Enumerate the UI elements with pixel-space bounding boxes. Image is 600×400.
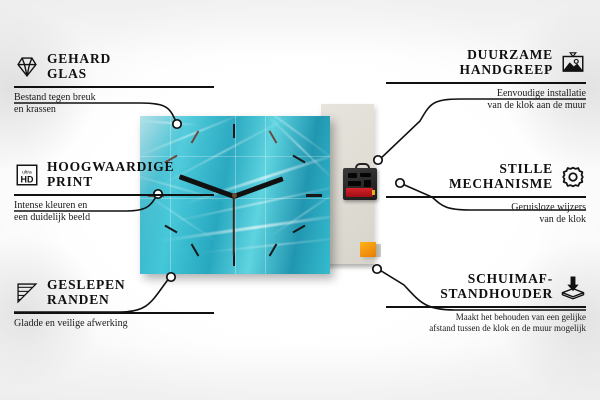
feature-description: Geruisloze wijzers van de klok bbox=[386, 202, 586, 226]
feature-description: Intense kleuren en een duidelijk beeld bbox=[14, 200, 214, 224]
feature-title: HOOGWAARDIGE PRINT bbox=[47, 160, 174, 189]
feature-rule bbox=[14, 86, 214, 88]
connector-dot-gehard-glas bbox=[173, 120, 181, 128]
connector-dot-duurzame-handgreep bbox=[374, 156, 382, 164]
feature-title: GESLEPEN RANDEN bbox=[47, 278, 125, 307]
ultra-hd-icon: ultra HD bbox=[14, 162, 40, 188]
svg-text:HD: HD bbox=[21, 174, 34, 184]
connector-dot-schuimafstandhouder bbox=[373, 265, 381, 273]
feature-rule bbox=[386, 196, 586, 198]
feature-stille-mechanisme: STILLE MECHANISME Geruisloze wijzers van… bbox=[386, 162, 586, 226]
feature-geslepen-randen: GESLEPEN RANDEN Gladde en veilige afwerk… bbox=[14, 278, 214, 330]
feature-gehard-glas: GEHARD GLAS Bestand tegen breuk en krass… bbox=[14, 52, 214, 116]
feature-title: DUURZAME HANDGREEP bbox=[460, 48, 553, 77]
feature-description: Eenvoudige installatie van de klok aan d… bbox=[386, 88, 586, 112]
feature-description: Bestand tegen breuk en krassen bbox=[14, 92, 214, 116]
feature-description: Gladde en veilige afwerking bbox=[14, 318, 214, 330]
feature-duurzame-handgreep: DUURZAME HANDGREEP Eenvoudige installati… bbox=[386, 48, 586, 112]
bevelled-edge-icon bbox=[14, 280, 40, 306]
feature-rule bbox=[386, 306, 586, 308]
feature-rule bbox=[14, 312, 214, 314]
arrow-into-stack-icon bbox=[560, 274, 586, 300]
diamond-icon bbox=[14, 54, 40, 80]
picture-frame-icon bbox=[560, 50, 586, 76]
feature-description: Maakt het behouden van een gelijke afsta… bbox=[386, 312, 586, 334]
gear-icon bbox=[560, 164, 586, 190]
feature-title: GEHARD GLAS bbox=[47, 52, 111, 81]
feature-title: SCHUIMAF- STANDHOUDER bbox=[440, 272, 553, 301]
infographic-stage: GEHARD GLAS Bestand tegen breuk en krass… bbox=[0, 0, 600, 400]
feature-hoogwaardige-print: ultra HD HOOGWAARDIGE PRINT Intense kleu… bbox=[14, 160, 214, 224]
feature-rule bbox=[386, 82, 586, 84]
feature-rule bbox=[14, 194, 214, 196]
feature-schuimafstandhouder: SCHUIMAF- STANDHOUDER Maakt het behouden… bbox=[386, 272, 586, 334]
feature-title: STILLE MECHANISME bbox=[449, 162, 553, 191]
